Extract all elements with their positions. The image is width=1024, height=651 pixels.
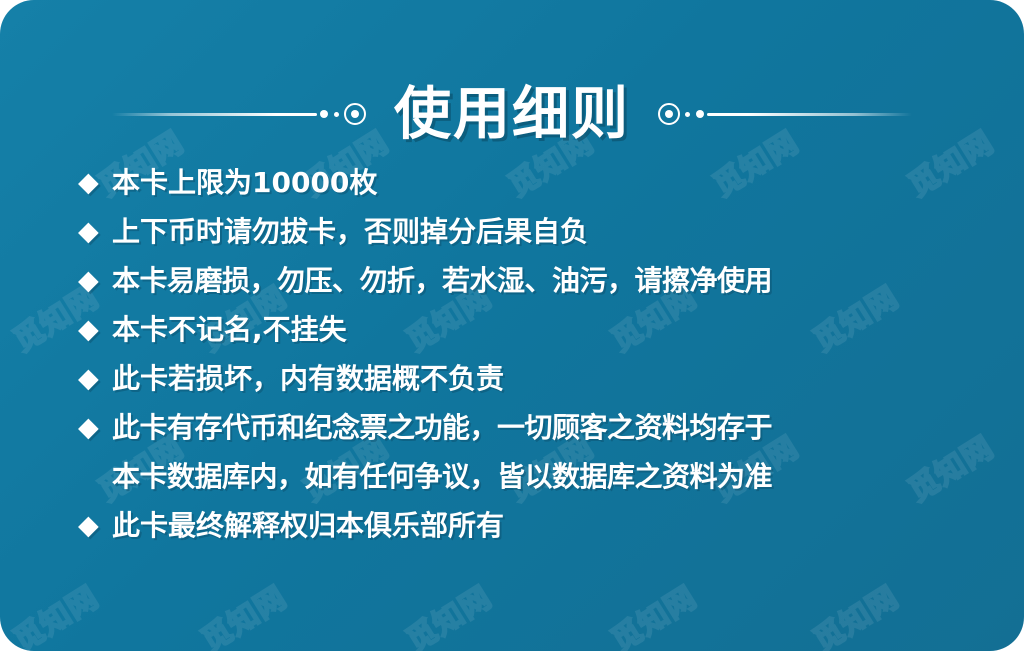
diamond-bullet-icon: ◆ [78,359,112,399]
card-header: 使用细则 [0,78,1024,150]
ornament-dot-small-left [334,112,339,117]
rule-item: ◆本卡不记名,不挂失 [0,310,1024,359]
rule-text: 本卡易磨损，勿压、勿折，若水湿、油污，请擦净使用 [112,261,772,301]
right-ornament [656,94,912,134]
page-title: 使用细则 [394,86,630,143]
ornament-ring-left [344,103,366,125]
watermark-text: 觅知网 [197,583,292,651]
ornament-line-left [112,113,317,116]
rule-text: 本卡数据库内，如有任何争议，皆以数据库之资料为准 [112,457,772,497]
diamond-bullet-icon: ◆ [78,261,112,301]
diamond-bullet-icon: ◆ [78,163,112,203]
rule-item: ◆此卡最终解释权归本俱乐部所有 [0,506,1024,555]
rules-list: ◆本卡上限为10000枚◆上下币时请勿拔卡，否则掉分后果自负◆本卡易磨损，勿压、… [0,163,1024,555]
diamond-bullet-icon: ◆ [78,408,112,448]
rule-text: 此卡最终解释权归本俱乐部所有 [112,506,504,546]
rule-text: 本卡上限为10000枚 [112,163,377,203]
ornament-dot-small-right [685,112,690,117]
rule-item: 本卡数据库内，如有任何争议，皆以数据库之资料为准 [0,457,1024,506]
diamond-bullet-icon: ◆ [78,212,112,252]
watermark-text: 觅知网 [809,583,904,651]
ornament-ring-right [658,103,680,125]
watermark-text: 觅知网 [9,583,104,651]
ornament-dot-large-left [320,110,328,118]
rule-text: 本卡不记名,不挂失 [112,310,347,350]
rule-item: ◆此卡有存代币和纪念票之功能，一切顾客之资料均存于 [0,408,1024,457]
rule-text: 此卡若损坏，内有数据概不负责 [112,359,504,399]
rule-text: 上下币时请勿拔卡，否则掉分后果自负 [112,212,588,252]
rule-item: ◆上下币时请勿拔卡，否则掉分后果自负 [0,212,1024,261]
diamond-bullet-icon: ◆ [78,506,112,546]
rule-item: ◆此卡若损坏，内有数据概不负责 [0,359,1024,408]
watermark-text: 觅知网 [607,583,702,651]
rule-text: 此卡有存代币和纪念票之功能，一切顾客之资料均存于 [112,408,772,448]
ornament-line-right [707,113,912,116]
ornament-dot-large-right [696,110,704,118]
usage-rules-card: 觅知网觅知网觅知网觅知网觅知网觅知网觅知网觅知网觅知网觅知网觅知网觅知网觅知网觅… [0,0,1024,651]
watermark-text: 觅知网 [402,583,497,651]
rule-item: ◆本卡易磨损，勿压、勿折，若水湿、油污，请擦净使用 [0,261,1024,310]
rule-item: ◆本卡上限为10000枚 [0,163,1024,212]
diamond-bullet-icon: ◆ [78,310,112,350]
left-ornament [112,94,368,134]
